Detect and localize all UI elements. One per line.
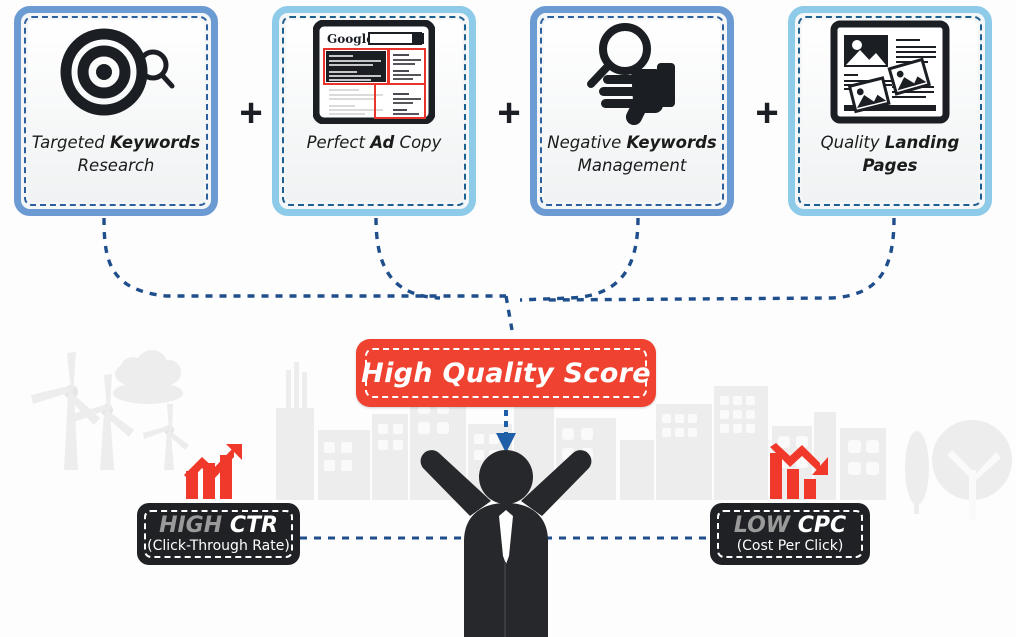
- card-label-bold: Keywords: [627, 133, 717, 152]
- windmill-icon: [31, 352, 100, 470]
- card-label: Negative Keywords Management: [541, 131, 722, 177]
- card-label-prefix: Targeted: [32, 133, 110, 152]
- metric-badge-low-cpc[interactable]: LOW CPC (Cost Per Click): [710, 503, 870, 565]
- down-arrow-icon: [496, 410, 516, 453]
- card-label-line2: Pages: [862, 156, 917, 175]
- card-label-bold: Keywords: [110, 133, 200, 152]
- plus-operator-3: +: [750, 96, 784, 130]
- metric-prefix: HIGH: [159, 513, 222, 538]
- card-label-prefix: Perfect: [307, 133, 371, 152]
- metric-prefix: LOW: [734, 513, 790, 538]
- card-label-bold: Landing: [885, 133, 959, 152]
- target-magnifier-icon: [21, 13, 211, 131]
- windmill-icon: [72, 374, 134, 470]
- high-quality-score-label: High Quality Score: [361, 358, 651, 389]
- landing-page-icon: [795, 13, 985, 131]
- high-quality-score-badge[interactable]: High Quality Score: [356, 339, 656, 407]
- card-label-line2: Research: [78, 156, 155, 175]
- chart-up-icon: [182, 443, 246, 499]
- card-label: Targeted Keywords Research: [26, 131, 206, 177]
- plus-operator-2: +: [492, 96, 526, 130]
- plus-operator-1: +: [234, 96, 268, 130]
- card-quality-landing-pages[interactable]: Quality Landing Pages: [788, 6, 992, 216]
- necktie: [499, 510, 513, 564]
- metric-subtitle: (Cost Per Click): [737, 538, 844, 555]
- card-negative-keywords-management[interactable]: Negative Keywords Management: [530, 6, 734, 216]
- metric-title: LOW CPC: [734, 514, 846, 538]
- leg-divider: [504, 562, 506, 637]
- infographic-canvas: Targeted Keywords Research + Google: [0, 0, 1016, 637]
- magnifier-thumbs-down-icon: [537, 13, 727, 131]
- card-label: Perfect Ad Copy: [301, 131, 448, 154]
- metric-term: CTR: [230, 513, 278, 538]
- card-label-prefix: Quality: [821, 133, 885, 152]
- metric-term: CPC: [798, 513, 846, 538]
- tree-icon: [905, 420, 1012, 520]
- card-label-bold: Ad: [370, 133, 394, 152]
- card-perfect-ad-copy[interactable]: Google: [272, 6, 476, 216]
- metric-badge-high-ctr[interactable]: HIGH CTR (Click-Through Rate): [137, 503, 300, 565]
- metric-title: HIGH CTR: [159, 514, 278, 538]
- card-targeted-keywords-research[interactable]: Targeted Keywords Research: [14, 6, 218, 216]
- factor-card-row: Targeted Keywords Research + Google: [0, 0, 1016, 232]
- chart-down-icon: [766, 443, 830, 499]
- card-label: Quality Landing Pages: [815, 131, 966, 177]
- card-label-prefix: Negative: [547, 133, 626, 152]
- metric-subtitle: (Click-Through Rate): [147, 538, 290, 555]
- cloud-icon: [113, 350, 183, 404]
- search-results-page-icon: Google: [279, 13, 469, 131]
- card-label-suffix: Copy: [394, 133, 441, 152]
- svg-text:Google: Google: [327, 32, 374, 46]
- card-label-line2: Management: [578, 156, 687, 175]
